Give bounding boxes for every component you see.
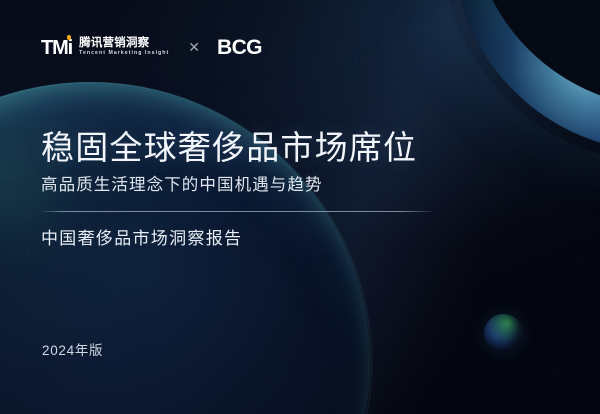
tmi-english-name: Tencent Marketing Insight xyxy=(79,50,169,58)
tmi-chinese-name: 腾讯营销洞察 xyxy=(79,37,169,49)
page-subtitle: 高品质生活理念下的中国机遇与趋势 xyxy=(41,175,541,196)
tmi-name-block: 腾讯营销洞察 Tencent Marketing Insight xyxy=(79,35,169,59)
logo-bar: TMi 腾讯营销洞察 Tencent Marketing Insight ✕ B… xyxy=(41,33,262,61)
report-name: 中国奢侈品市场洞察报告 xyxy=(41,227,242,251)
page-title: 稳固全球奢侈品市场席位 xyxy=(41,128,541,168)
tmi-wordmark-icon: TMi xyxy=(41,36,72,58)
logo-separator-x-icon: ✕ xyxy=(188,40,200,54)
title-divider xyxy=(41,211,431,212)
cover-content: TMi 腾讯营销洞察 Tencent Marketing Insight ✕ B… xyxy=(0,0,600,414)
edition-label: 2024年版 xyxy=(42,339,103,359)
report-cover: TMi 腾讯营销洞察 Tencent Marketing Insight ✕ B… xyxy=(0,0,600,414)
bcg-logo: BCG xyxy=(217,37,262,58)
tmi-logo: TMi 腾讯营销洞察 Tencent Marketing Insight xyxy=(41,35,169,59)
title-block: 稳固全球奢侈品市场席位 高品质生活理念下的中国机遇与趋势 xyxy=(41,128,541,197)
tmi-orange-dot-icon xyxy=(67,35,72,40)
tmi-wordmark-text: TMi xyxy=(41,38,72,58)
